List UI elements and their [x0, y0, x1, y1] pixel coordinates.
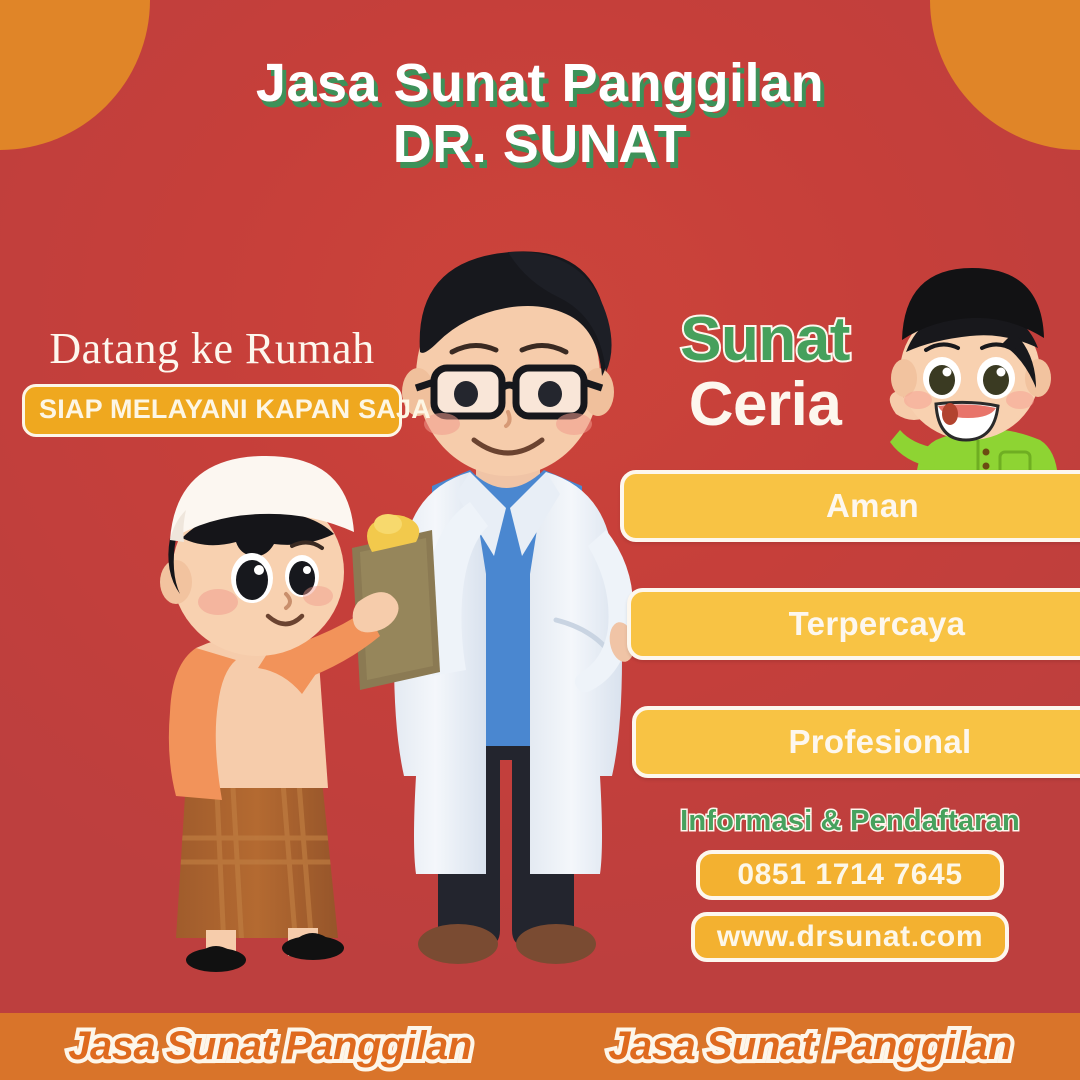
boy-patient-figure	[160, 456, 399, 972]
footer-banner: Jasa Sunat Panggilan Jasa Sunat Panggila…	[0, 1013, 1080, 1080]
brand-title: Sunat Ceria	[640, 310, 890, 436]
mascot-boy-figure	[890, 268, 1058, 480]
corner-circle-top-left	[0, 0, 150, 150]
availability-badge: SIAP MELAYANI KAPAN SAJA	[22, 384, 402, 437]
website-text: www.drsunat.com	[717, 920, 983, 954]
brand-word-sunat: Sunat	[640, 310, 890, 371]
contact-block: Informasi & Pendaftaran 0851 1714 7645 w…	[630, 805, 1070, 962]
poster-headline: Jasa Sunat Panggilan DR. SUNAT	[0, 56, 1080, 172]
feature-item-terpercaya[interactable]: Terpercaya	[627, 588, 1080, 660]
phone-number-pill[interactable]: 0851 1714 7645	[696, 850, 1004, 900]
home-visit-heading: Datang ke Rumah	[22, 326, 402, 372]
feature-label: Profesional	[788, 723, 971, 761]
headline-line-1: Jasa Sunat Panggilan	[0, 56, 1080, 111]
clipboard	[352, 514, 440, 690]
website-pill[interactable]: www.drsunat.com	[691, 912, 1009, 962]
footer-text-right: Jasa Sunat Panggilan	[540, 1024, 1080, 1069]
contact-heading: Informasi & Pendaftaran	[630, 805, 1070, 838]
feature-item-aman[interactable]: Aman	[620, 470, 1080, 542]
footer-text-left: Jasa Sunat Panggilan	[0, 1024, 540, 1069]
headline-line-2: DR. SUNAT	[0, 117, 1080, 172]
feature-label: Terpercaya	[789, 605, 966, 643]
poster-canvas: Jasa Sunat Panggilan DR. SUNAT Datang ke…	[0, 0, 1080, 1080]
left-callout-block: Datang ke Rumah SIAP MELAYANI KAPAN SAJA	[22, 326, 402, 437]
feature-label: Aman	[826, 487, 919, 525]
feature-item-profesional[interactable]: Profesional	[632, 706, 1080, 778]
corner-circle-top-right	[930, 0, 1080, 150]
availability-badge-label: SIAP MELAYANI KAPAN SAJA	[39, 394, 431, 424]
brand-word-ceria: Ceria	[640, 375, 890, 436]
phone-number-text: 0851 1714 7645	[737, 858, 962, 892]
doctor-figure	[394, 251, 637, 964]
